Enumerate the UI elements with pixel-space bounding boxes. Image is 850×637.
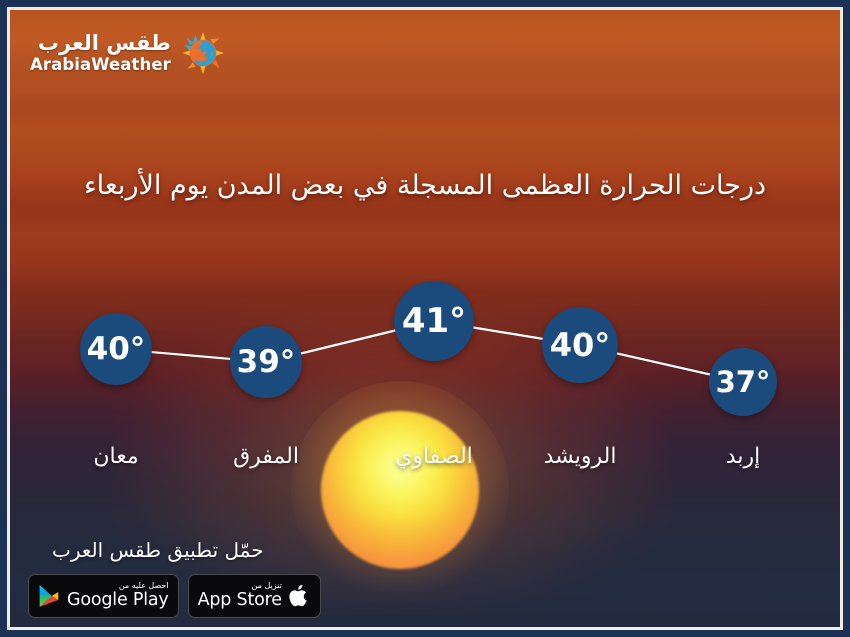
temperature-value: 40°: [87, 334, 146, 365]
temperature-value: 41°: [402, 304, 466, 338]
temperature-value: 39°: [237, 347, 296, 378]
google-play-big-text: Google Play: [67, 592, 169, 610]
temperature-bubble: 41°: [394, 281, 474, 361]
app-store-small-text: تنزيل من: [198, 582, 282, 590]
temperature-value: 37°: [716, 368, 771, 397]
poster-inner-frame: طقس العرب ArabiaWeather درجات الحرارة ال…: [7, 7, 843, 630]
city-label: إربد: [653, 444, 833, 469]
temperature-bubble: 37°: [709, 348, 777, 416]
temperature-bubble: 40°: [80, 313, 152, 385]
temperature-bubble: 39°: [230, 326, 302, 398]
app-store-big-text: App Store: [198, 592, 282, 610]
temperature-chart: 40°معان39°المفرق41°الصفاوي40°الرويشد37°إ…: [10, 10, 843, 630]
app-store-badge[interactable]: تنزيل من App Store: [188, 574, 321, 618]
app-store-badges: احصل عليه من Google Play تنزيل من App St…: [28, 574, 321, 618]
apple-icon: [289, 583, 311, 609]
download-app-text: حمّل تطبيق طقس العرب: [52, 538, 264, 562]
city-label: المفرق: [176, 444, 356, 469]
temperature-bubble: 40°: [542, 307, 618, 383]
google-play-icon: [38, 584, 60, 608]
city-label: الرويشد: [490, 444, 670, 469]
weather-infographic-poster: طقس العرب ArabiaWeather درجات الحرارة ال…: [0, 0, 850, 637]
google-play-badge[interactable]: احصل عليه من Google Play: [28, 574, 179, 618]
temperature-value: 40°: [550, 329, 611, 361]
app-store-badge-texts: تنزيل من App Store: [198, 582, 282, 610]
google-play-small-text: احصل عليه من: [67, 582, 169, 590]
google-play-badge-texts: احصل عليه من Google Play: [67, 582, 169, 610]
